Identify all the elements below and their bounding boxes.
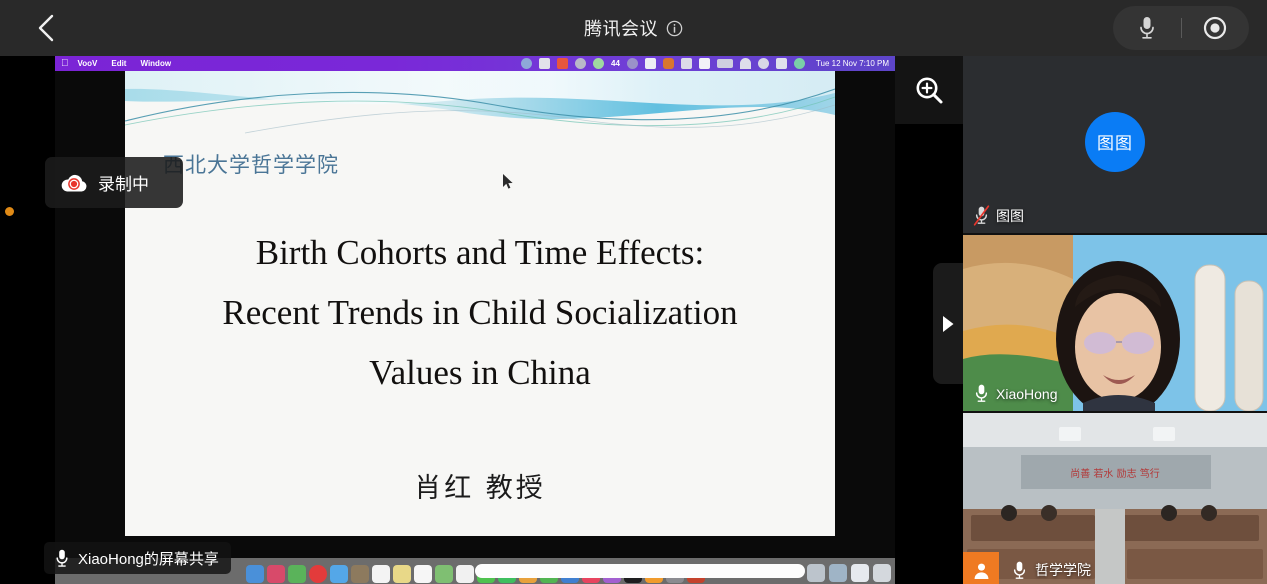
- search-icon[interactable]: [758, 58, 769, 69]
- shield-icon[interactable]: [663, 58, 674, 69]
- recording-badge: 录制中: [45, 157, 183, 208]
- magnifier-plus-icon: [913, 74, 946, 107]
- wechat-icon[interactable]: [593, 58, 604, 69]
- chevron-left-icon: [35, 13, 57, 43]
- apple-logo-icon: : [61, 58, 69, 69]
- back-button[interactable]: [28, 10, 64, 46]
- slide-organization: 西北大学哲学学院: [163, 149, 339, 179]
- participant-name-row: 哲学学院: [963, 552, 1091, 584]
- mic-toggle-button[interactable]: [1113, 15, 1181, 41]
- participant-name-group: 哲学学院: [999, 560, 1091, 581]
- shared-screen-content:  VooV Edit Window 44: [55, 56, 895, 584]
- screen-share-owner-text: XiaoHong的屏幕共享: [78, 548, 219, 569]
- menu-item-voov[interactable]: VooV: [78, 59, 98, 68]
- slide-wave-decoration: [125, 71, 835, 161]
- maps-icon[interactable]: [435, 565, 453, 583]
- printer-icon[interactable]: [539, 58, 550, 69]
- display-icon[interactable]: [681, 58, 692, 69]
- control-center-icon[interactable]: [776, 58, 787, 69]
- participant-name-row: XiaoHong: [973, 383, 1058, 404]
- mail-icon[interactable]: [330, 565, 348, 583]
- mouse-cursor-icon: [503, 174, 514, 190]
- slide-title-line-2: Recent Trends in Child Socialization: [125, 283, 835, 343]
- presentation-slide: 西北大学哲学学院 Birth Cohorts and Time Effects:…: [125, 71, 835, 536]
- slide-title: Birth Cohorts and Time Effects: Recent T…: [125, 223, 835, 404]
- notes-brown-icon[interactable]: [351, 565, 369, 583]
- opera-icon[interactable]: [309, 565, 327, 583]
- mac-clock: Tue 12 Nov 7:10 PM: [816, 59, 889, 68]
- speaking-indicator-dot: [5, 207, 14, 216]
- camera-toggle-button[interactable]: [1182, 15, 1250, 41]
- participants-sidebar: 图图 图图: [963, 56, 1267, 584]
- participant-name: 图图: [996, 206, 1024, 226]
- slide-title-line-3: Values in China: [125, 343, 835, 403]
- meeting-app-window: 腾讯会议: [0, 0, 1267, 584]
- chrome-icon[interactable]: [288, 565, 306, 583]
- slide-title-line-1: Birth Cohorts and Time Effects:: [125, 223, 835, 283]
- info-circle-icon[interactable]: [666, 20, 683, 37]
- participant-tile-philosophy[interactable]: 尚善 若水 励志 笃行: [963, 413, 1267, 584]
- microphone-icon: [1011, 560, 1028, 581]
- menu-item-window[interactable]: Window: [140, 59, 171, 68]
- meeting-title: 腾讯会议: [584, 15, 658, 41]
- camera-record-icon: [1202, 15, 1228, 41]
- slide-author: 肖红 教授: [125, 466, 835, 505]
- microphone-muted-icon: [973, 205, 990, 226]
- at-sign-icon[interactable]: [575, 58, 586, 69]
- cloud-record-icon: [59, 171, 89, 195]
- finder-icon[interactable]: [246, 565, 264, 583]
- av-controls-pill: [1113, 6, 1249, 50]
- stickies-icon[interactable]: [393, 565, 411, 583]
- calendar-icon[interactable]: [372, 565, 390, 583]
- battery-icon[interactable]: [717, 59, 733, 68]
- participant-name: 哲学学院: [1035, 560, 1091, 580]
- participant-name-row: 图图: [973, 205, 1024, 226]
- launchpad-icon[interactable]: [267, 565, 285, 583]
- participant-name: XiaoHong: [996, 386, 1058, 402]
- mac-menu-bar:  VooV Edit Window 44: [55, 56, 895, 71]
- calendar-red-icon[interactable]: [557, 58, 568, 69]
- svg-text:尚善 若水 励志 笃行: 尚善 若水 励志 笃行: [1070, 467, 1160, 480]
- microphone-icon: [1137, 15, 1157, 41]
- microphone-icon: [973, 383, 990, 404]
- downloads-icon[interactable]: [807, 564, 825, 582]
- screen-share-owner-label: XiaoHong的屏幕共享: [44, 542, 231, 574]
- participant-tile-tutu[interactable]: 图图 图图: [963, 56, 1267, 233]
- top-bar: 腾讯会议: [0, 0, 1267, 56]
- zoom-in-button[interactable]: [895, 56, 963, 124]
- dock-right-group: [807, 564, 891, 582]
- meeting-title-group: 腾讯会议: [0, 0, 1267, 56]
- pages-doc-icon[interactable]: [851, 564, 869, 582]
- trash-icon[interactable]: [873, 564, 891, 582]
- wifi-icon[interactable]: [740, 58, 751, 69]
- binoculars-icon[interactable]: [645, 58, 656, 69]
- screen-share-stage:  VooV Edit Window 44: [0, 56, 963, 584]
- microphone-icon: [54, 548, 70, 569]
- sidebar-collapse-tab[interactable]: [933, 263, 963, 384]
- triangle-right-icon: [941, 315, 955, 333]
- siri-icon[interactable]: [794, 58, 805, 69]
- input-source-a-icon[interactable]: [699, 58, 710, 69]
- reminders-icon[interactable]: [414, 565, 432, 583]
- avatar: 图图: [1085, 112, 1145, 172]
- menu-item-edit[interactable]: Edit: [111, 59, 126, 68]
- globe-icon[interactable]: [627, 58, 638, 69]
- wechat-badge-count: 44: [611, 59, 620, 68]
- recording-label: 录制中: [98, 170, 149, 195]
- person-icon: [963, 552, 999, 584]
- cloud-sync-icon[interactable]: [521, 58, 532, 69]
- participant-tile-xiaohong[interactable]: XiaoHong: [963, 235, 1267, 411]
- folder-icon[interactable]: [829, 564, 847, 582]
- mac-status-icons: 44 Tue 12 Nov 7:10 PM: [521, 58, 889, 69]
- screen-share-control-bar[interactable]: [475, 564, 805, 578]
- photos-icon[interactable]: [456, 565, 474, 583]
